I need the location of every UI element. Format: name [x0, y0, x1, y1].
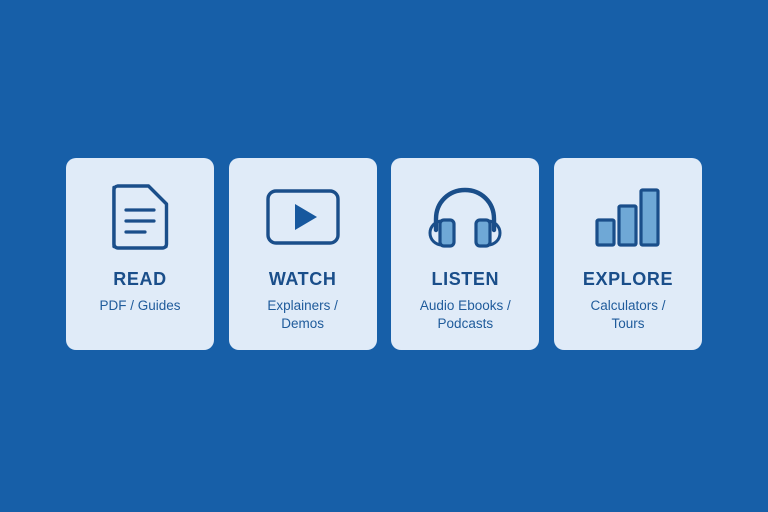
- card-title: LISTEN: [432, 270, 500, 290]
- card-subtitle: PDF / Guides: [77, 297, 203, 315]
- document-icon: [98, 180, 182, 254]
- card-subtitle: Calculators / Tours: [565, 297, 691, 333]
- content-card-row: READ PDF / Guides WATCH Explainers / Dem…: [66, 158, 702, 350]
- headphones-icon: [423, 180, 507, 254]
- video-play-icon: [261, 180, 345, 254]
- card-explore[interactable]: EXPLORE Calculators / Tours: [554, 158, 702, 350]
- card-title: READ: [113, 270, 166, 290]
- card-listen[interactable]: LISTEN Audio Ebooks / Podcasts: [391, 158, 539, 350]
- card-subtitle: Explainers / Demos: [240, 297, 366, 333]
- page-background: READ PDF / Guides WATCH Explainers / Dem…: [0, 0, 768, 512]
- card-title: EXPLORE: [583, 270, 673, 290]
- card-read[interactable]: READ PDF / Guides: [66, 158, 214, 350]
- card-watch[interactable]: WATCH Explainers / Demos: [229, 158, 377, 350]
- bar-chart-icon: [586, 180, 670, 254]
- card-title: WATCH: [269, 270, 337, 290]
- card-subtitle: Audio Ebooks / Podcasts: [402, 297, 528, 333]
